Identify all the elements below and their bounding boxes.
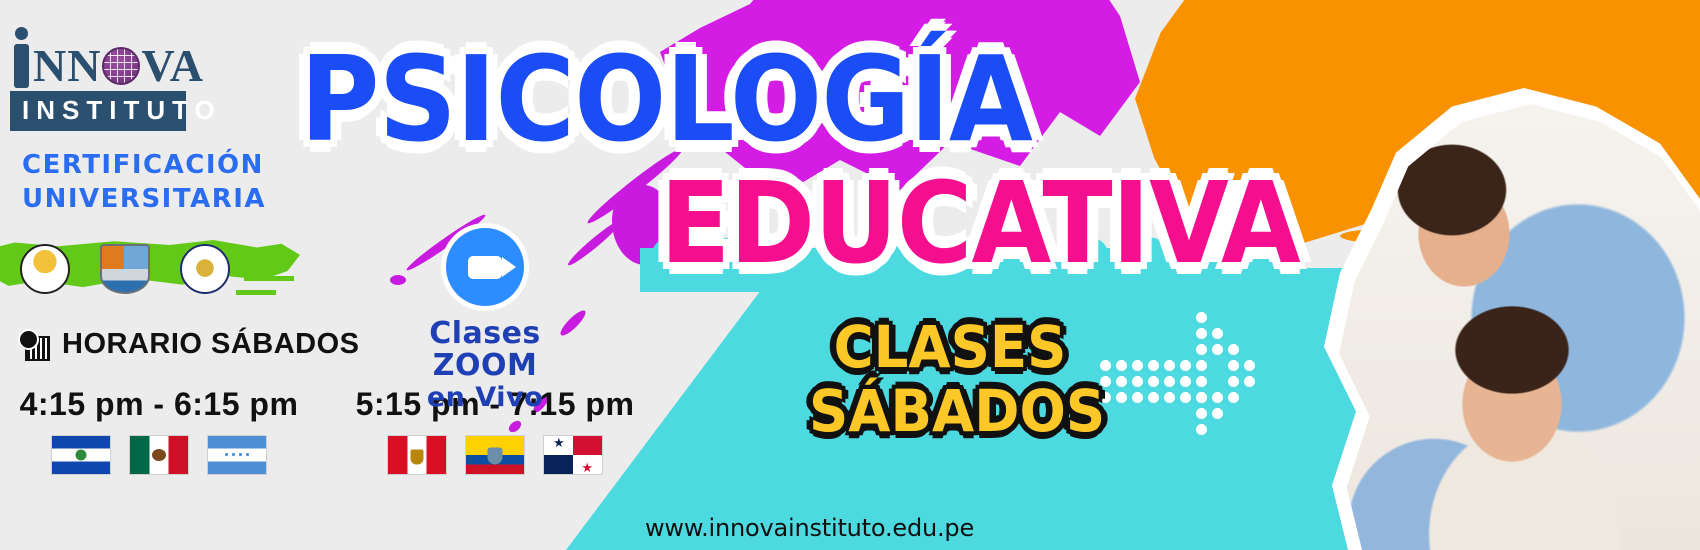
- flag-honduras: [207, 435, 267, 475]
- logo-i-letter: [14, 44, 29, 88]
- university-seal-3: [180, 244, 230, 294]
- mother-and-child-photo: [1300, 88, 1700, 550]
- innova-logo: NN VA INSTITUTO: [10, 28, 250, 131]
- classes-saturday-badge: CLASES SÁBADOS: [809, 318, 1091, 440]
- university-seal-1: [20, 244, 70, 294]
- university-seal-2: [100, 244, 150, 294]
- arrow-dot: [1212, 408, 1223, 419]
- badge-line-2: SÁBADOS: [809, 382, 1091, 440]
- schedule-flags-1: [51, 435, 267, 475]
- arrow-dot: [1148, 392, 1159, 403]
- logo-word-text: NN VA: [33, 44, 204, 88]
- arrow-dot: [1212, 344, 1223, 355]
- arrow-dot: [1244, 376, 1255, 387]
- flag-el-salvador: [51, 435, 111, 475]
- arrow-dot: [1132, 392, 1143, 403]
- schedule-heading-label: HORARIO SÁBADOS: [62, 328, 360, 361]
- arrow-dot: [1116, 376, 1127, 387]
- logo-wordmark: NN VA: [10, 28, 250, 88]
- flag-panama: [543, 435, 603, 475]
- arrow-dot: [1164, 392, 1175, 403]
- arrow-dot: [1212, 328, 1223, 339]
- arrow-dot: [1196, 328, 1207, 339]
- promotional-banner: NN VA INSTITUTO CERTIFICACIÓN UNIVERSITA…: [0, 0, 1700, 550]
- title-line-2: EDUCATIVA: [660, 168, 1300, 280]
- zoom-line-2: en Vivo: [380, 382, 590, 414]
- flag-ecuador: [465, 435, 525, 475]
- video-camera-icon: [446, 228, 524, 306]
- arrow-dot: [1196, 392, 1207, 403]
- schedule-block-1: 4:15 pm - 6:15 pm: [14, 386, 304, 475]
- title-line-1: PSICOLOGÍA: [300, 40, 1032, 158]
- certification-text: CERTIFICACIÓN UNIVERSITARIA: [22, 148, 282, 216]
- arrow-dot: [1228, 360, 1239, 371]
- flag-peru: [387, 435, 447, 475]
- arrow-dot: [1164, 376, 1175, 387]
- zoom-classes-text: Clases ZOOM en Vivo: [380, 318, 590, 414]
- badge-line-1: CLASES: [834, 313, 1067, 381]
- arrow-dot: [1116, 392, 1127, 403]
- arrow-dot: [1100, 360, 1111, 371]
- arrow-dot: [1148, 376, 1159, 387]
- photo-subject: [1316, 104, 1700, 550]
- arrow-dot: [1180, 392, 1191, 403]
- camera-glyph: [468, 256, 502, 279]
- schedule-flags-2: [387, 435, 603, 475]
- dotted-arrow-right-icon: [1100, 312, 1270, 432]
- arrow-dot: [1196, 424, 1207, 435]
- arrow-dot: [1228, 376, 1239, 387]
- arrow-dot: [1196, 312, 1207, 323]
- zoom-line-1: Clases ZOOM: [380, 318, 590, 382]
- zoom-classes-block: Clases ZOOM en Vivo: [380, 228, 590, 414]
- arrow-dot: [1196, 344, 1207, 355]
- schedule-time-1: 4:15 pm - 6:15 pm: [20, 386, 299, 423]
- schedule-heading: HORARIO SÁBADOS: [18, 328, 360, 361]
- arrow-dot: [1116, 360, 1127, 371]
- website-url[interactable]: www.innovainstituto.edu.pe: [645, 514, 974, 542]
- logo-subtitle: INSTITUTO: [10, 91, 186, 131]
- arrow-dot: [1228, 344, 1239, 355]
- logo-word-part-2: VA: [141, 44, 204, 88]
- arrow-dot: [1228, 392, 1239, 403]
- green-flick-1: [252, 258, 286, 264]
- arrow-dot: [1164, 360, 1175, 371]
- arrow-dot: [1196, 408, 1207, 419]
- green-flick-2: [244, 276, 294, 281]
- clock-part: [18, 329, 39, 350]
- arrow-dot: [1196, 376, 1207, 387]
- certification-line-2: UNIVERSITARIA: [22, 182, 282, 216]
- arrow-dot: [1196, 360, 1207, 371]
- calendar-clock-icon: [18, 329, 50, 361]
- arrow-dot: [1180, 360, 1191, 371]
- arrow-dot: [1180, 376, 1191, 387]
- arrow-dot: [1148, 360, 1159, 371]
- certification-line-1: CERTIFICACIÓN: [22, 148, 282, 182]
- logo-word-part-1: NN: [33, 44, 101, 88]
- arrow-dot: [1132, 360, 1143, 371]
- arrow-dot: [1132, 376, 1143, 387]
- university-seals: [20, 244, 230, 294]
- green-flick-3: [236, 290, 276, 295]
- arrow-dot: [1212, 392, 1223, 403]
- flag-mexico: [129, 435, 189, 475]
- arrow-dot: [1244, 360, 1255, 371]
- globe-icon: [102, 47, 140, 85]
